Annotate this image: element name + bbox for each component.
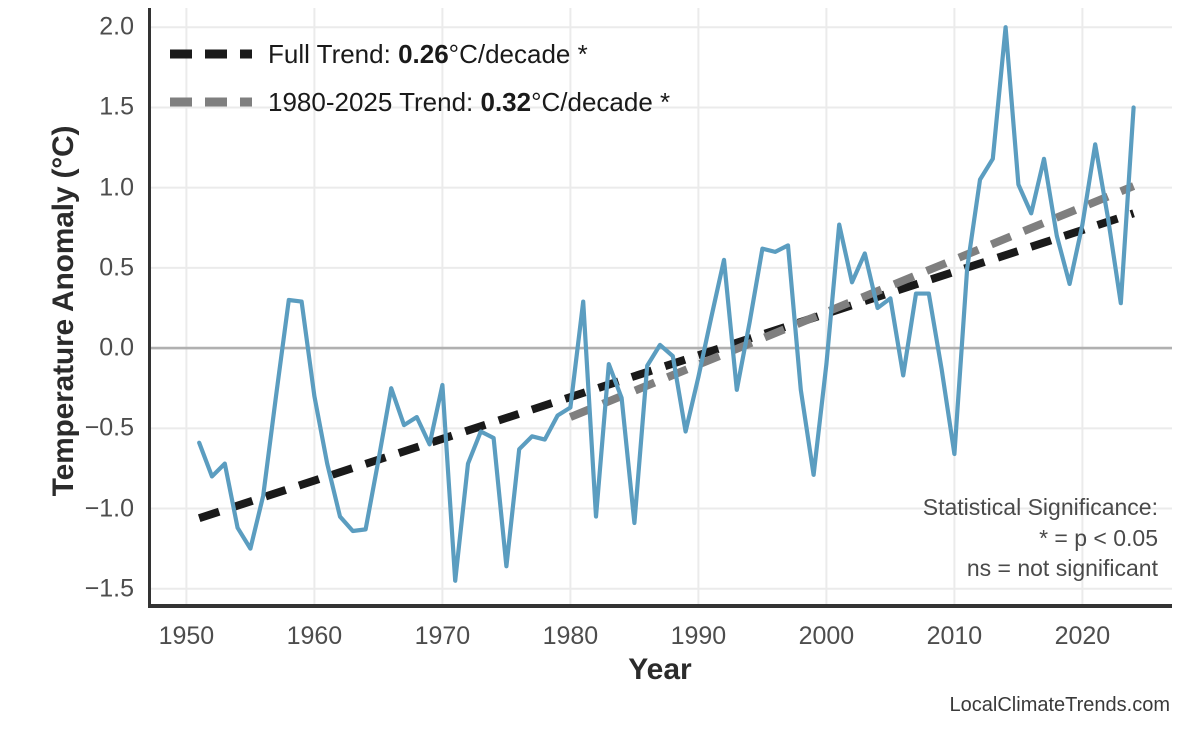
legend-prefix-recent: 1980-2025 Trend: (268, 87, 481, 117)
significance-line-2: * = p < 0.05 (923, 523, 1158, 554)
legend-value-full: 0.26 (398, 39, 449, 69)
legend-key-full-trend (168, 41, 254, 67)
legend-key-recent-trend (168, 89, 254, 115)
significance-annotation: Statistical Significance: * = p < 0.05 n… (923, 492, 1158, 584)
legend-suffix-recent: °C/decade * (531, 87, 670, 117)
x-tick-label: 1950 (131, 622, 241, 651)
legend-suffix-full: °C/decade * (449, 39, 588, 69)
site-credit: LocalClimateTrends.com (950, 694, 1170, 717)
legend-prefix-full: Full Trend: (268, 39, 398, 69)
x-tick-label: 1970 (387, 622, 497, 651)
significance-line-3: ns = not significant (923, 553, 1158, 584)
y-axis-title: Temperature Anomaly (°C) (47, 11, 81, 611)
x-axis-title: Year (148, 653, 1172, 687)
chart-figure: Temperature Anomaly (°C) Year −1.5−1.0−0… (0, 0, 1186, 737)
legend-label-full-trend: Full Trend: 0.26°C/decade * (254, 39, 588, 70)
legend-item-full-trend: Full Trend: 0.26°C/decade * (168, 30, 928, 78)
x-tick-label: 2020 (1027, 622, 1137, 651)
legend-item-recent-trend: 1980-2025 Trend: 0.32°C/decade * (168, 78, 928, 126)
legend-value-recent: 0.32 (481, 87, 532, 117)
legend-label-recent-trend: 1980-2025 Trend: 0.32°C/decade * (254, 87, 670, 118)
significance-line-1: Statistical Significance: (923, 492, 1158, 523)
chart-legend: Full Trend: 0.26°C/decade * 1980-2025 Tr… (168, 30, 928, 126)
x-tick-label: 1990 (643, 622, 753, 651)
x-tick-label: 1960 (259, 622, 369, 651)
x-tick-label: 2010 (899, 622, 1009, 651)
x-tick-label: 1980 (515, 622, 625, 651)
x-tick-label: 2000 (771, 622, 881, 651)
